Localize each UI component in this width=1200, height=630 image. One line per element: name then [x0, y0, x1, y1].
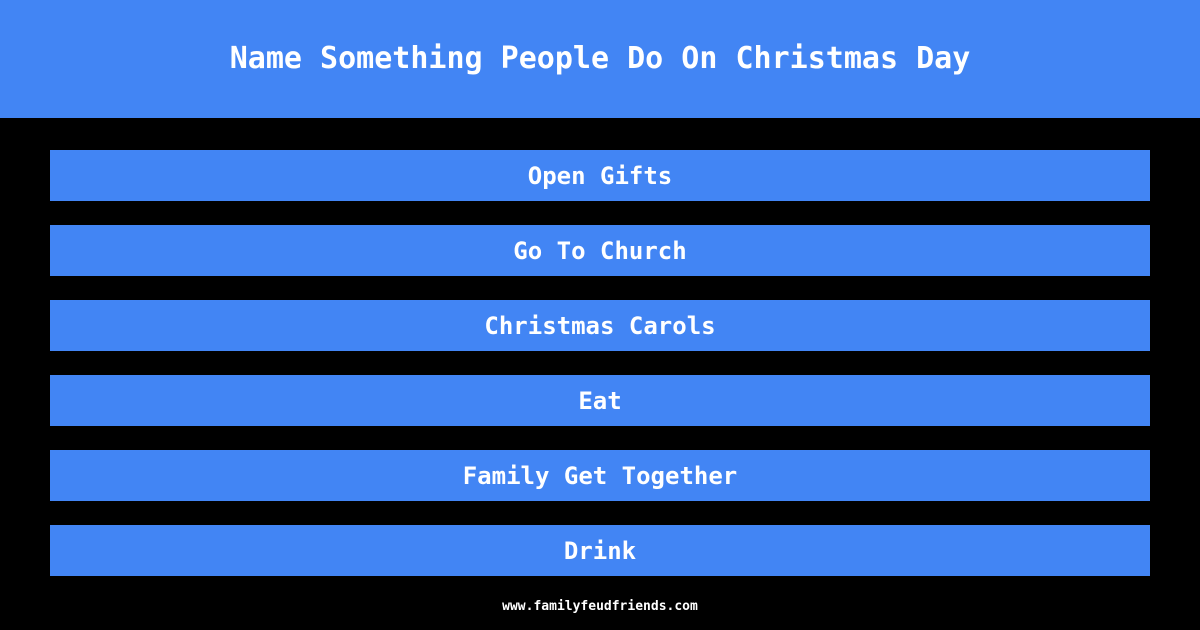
- answer-row[interactable]: Drink: [50, 525, 1150, 576]
- page-title: Name Something People Do On Christmas Da…: [230, 44, 971, 74]
- answer-row[interactable]: Christmas Carols: [50, 300, 1150, 351]
- answer-row[interactable]: Family Get Together: [50, 450, 1150, 501]
- answer-label: Open Gifts: [528, 164, 673, 188]
- answer-row[interactable]: Go To Church: [50, 225, 1150, 276]
- answer-row[interactable]: Open Gifts: [50, 150, 1150, 201]
- site-url[interactable]: www.familyfeudfriends.com: [502, 592, 698, 613]
- answer-list: Open Gifts Go To Church Christmas Carols…: [50, 150, 1150, 576]
- answer-label: Drink: [564, 539, 636, 563]
- family-feud-answer-card: Name Something People Do On Christmas Da…: [0, 0, 1200, 630]
- question-header: Name Something People Do On Christmas Da…: [0, 0, 1200, 118]
- footer: www.familyfeudfriends.com: [0, 592, 1200, 630]
- answer-row[interactable]: Eat: [50, 375, 1150, 426]
- answer-label: Eat: [578, 389, 621, 413]
- answer-label: Family Get Together: [463, 464, 738, 488]
- answer-label: Christmas Carols: [484, 314, 715, 338]
- answer-label: Go To Church: [513, 239, 686, 263]
